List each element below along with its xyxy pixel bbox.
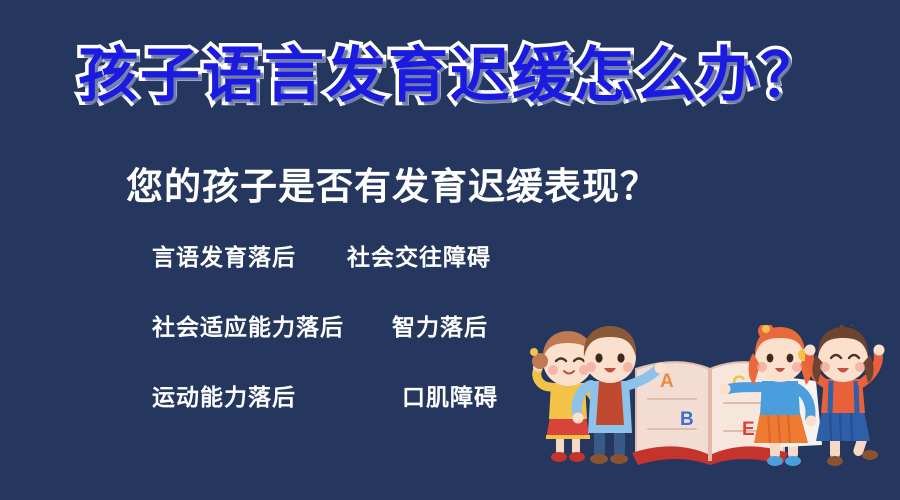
page-subtitle: 您的孩子是否有发育迟缓表现？ xyxy=(126,156,658,210)
poster-canvas: 孩子语言发育迟缓怎么办？ 您的孩子是否有发育迟缓表现？ 言语发育落后 社会交往障… xyxy=(0,0,900,500)
symptom-item-oral-muscle-disorder: 口肌障碍 xyxy=(402,378,498,412)
symptom-row: 社会适应能力落后 智力落后 xyxy=(0,308,560,378)
page-title: 孩子语言发育迟缓怎么办？ xyxy=(0,44,900,107)
symptom-item-social-interaction-disorder: 社会交往障碍 xyxy=(347,238,491,272)
symptom-item-speech-delay: 言语发育落后 xyxy=(152,238,296,272)
symptom-item-social-adaptation-delay: 社会适应能力落后 xyxy=(152,308,344,342)
symptom-item-motor-delay: 运动能力落后 xyxy=(152,378,296,412)
symptom-item-intellectual-delay: 智力落后 xyxy=(392,308,488,342)
book-letter-b: B xyxy=(680,409,694,430)
book-letter-e: E xyxy=(742,419,755,440)
symptom-row: 运动能力落后 口肌障碍 xyxy=(0,378,560,448)
children-reading-illustration: A B C E xyxy=(520,325,900,500)
book-letter-a: A xyxy=(660,371,674,392)
symptom-list: 言语发育落后 社会交往障碍 社会适应能力落后 智力落后 运动能力落后 口肌障碍 xyxy=(0,238,560,448)
symptom-row: 言语发育落后 社会交往障碍 xyxy=(0,238,560,308)
